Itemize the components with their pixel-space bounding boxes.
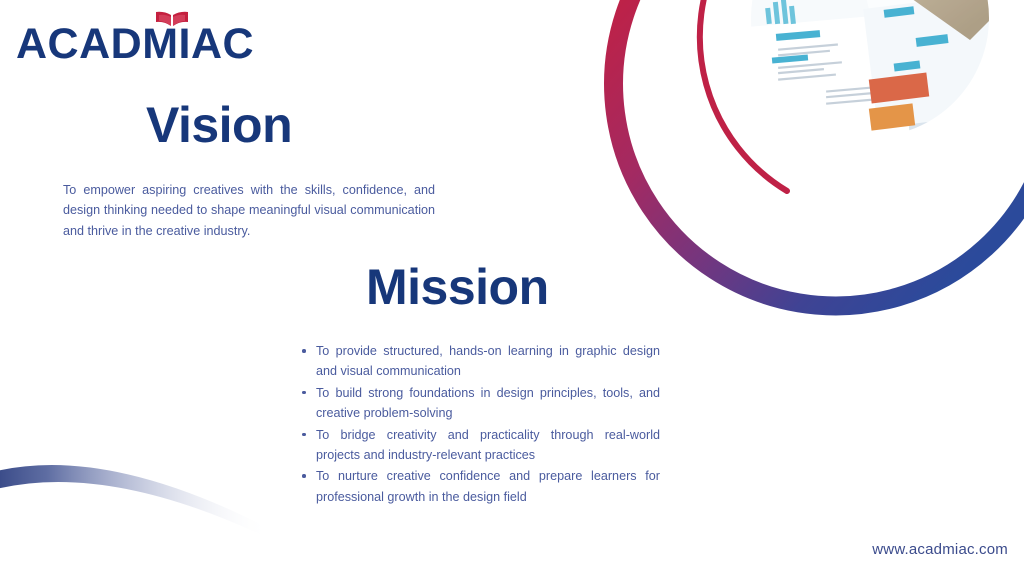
mission-bullet: To build strong foundations in design pr… (300, 383, 660, 424)
decorative-circle-cluster (540, 0, 1024, 380)
decorative-photo (740, 0, 1024, 156)
mission-bullet: To nurture creative confidence and prepa… (300, 466, 660, 507)
mission-bullet-list: To provide structured, hands-on learning… (300, 341, 660, 508)
outer-gradient-arc (614, 0, 1024, 306)
bottom-left-swoosh (0, 405, 300, 535)
slide-canvas: ACADMIAC Vision To empower aspiring crea… (0, 0, 1024, 576)
brand-logo[interactable]: ACADMIAC (16, 10, 266, 66)
vision-heading: Vision (146, 100, 292, 150)
website-url[interactable]: www.acadmiac.com (872, 541, 1008, 558)
photo-white-ring (743, 0, 997, 145)
mission-bullet: To bridge creativity and practicality th… (300, 425, 660, 466)
inner-crimson-arc (700, 0, 1024, 191)
mission-heading: Mission (366, 262, 549, 312)
vision-body-text: To empower aspiring creatives with the s… (63, 180, 435, 241)
logo-wordmark: ACADMIAC (16, 20, 254, 66)
mission-bullet: To provide structured, hands-on learning… (300, 341, 660, 382)
